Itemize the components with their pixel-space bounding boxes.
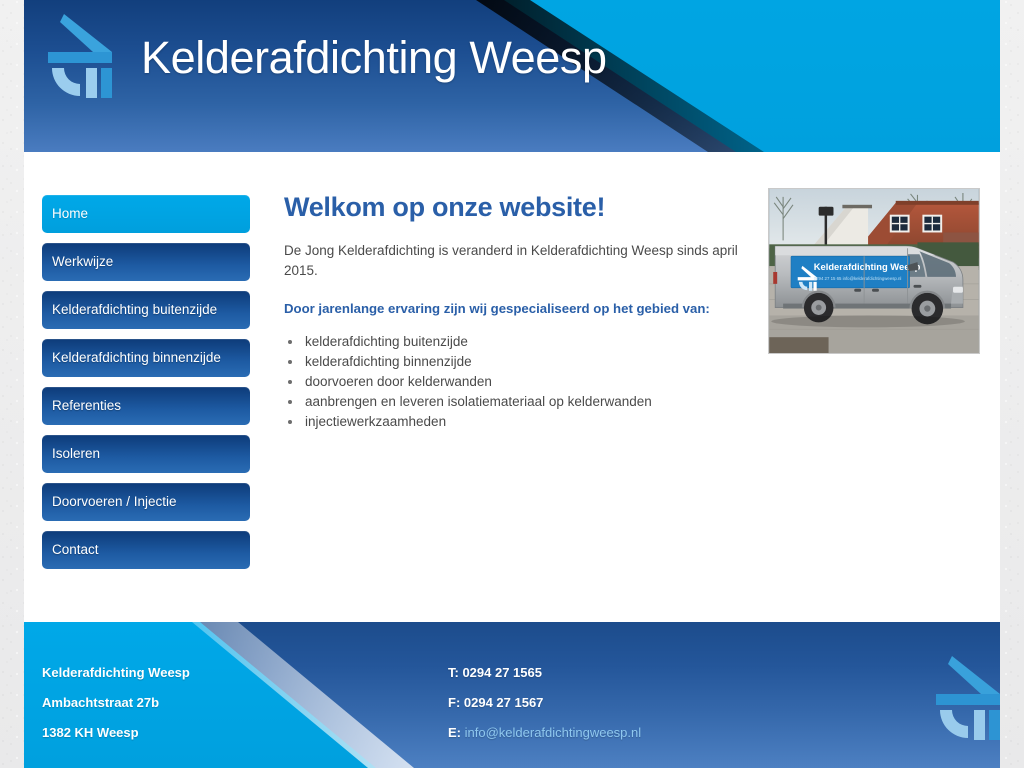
svg-text:Kelderafdichting Weesp: Kelderafdichting Weesp — [814, 262, 921, 272]
sidebar-item-kelderafdichting-binnenzijde[interactable]: Kelderafdichting binnenzijde — [42, 339, 250, 377]
footer-contact-block: T: 0294 27 1565 F: 0294 27 1567 E: info@… — [448, 658, 641, 748]
sidebar-nav: Home Werkwijze Kelderafdichting buitenzi… — [42, 195, 250, 579]
site-header: Kelderafdichting Weesp — [24, 0, 1000, 152]
sidebar-item-kelderafdichting-buitenzijde[interactable]: Kelderafdichting buitenzijde — [42, 291, 250, 329]
footer-address-block: Kelderafdichting Weesp Ambachtstraat 27b… — [42, 658, 190, 748]
footer-city: 1382 KH Weesp — [42, 718, 190, 748]
site-footer: Kelderafdichting Weesp Ambachtstraat 27b… — [24, 622, 1000, 768]
list-item: doorvoeren door kelderwanden — [284, 372, 762, 392]
sidebar-item-referenties[interactable]: Referenties — [42, 387, 250, 425]
sidebar-item-isoleren[interactable]: Isoleren — [42, 435, 250, 473]
company-van-photo: Kelderafdichting Weesp 0294 27 15 65 inf… — [768, 188, 980, 354]
footer-email-row: E: info@kelderafdichtingweesp.nl — [448, 718, 641, 748]
services-list: kelderafdichting buitenzijde kelderafdic… — [284, 332, 762, 432]
sidebar-item-home[interactable]: Home — [42, 195, 250, 233]
intro-paragraph: De Jong Kelderafdichting is veranderd in… — [284, 241, 762, 281]
services-subheading: Door jarenlange ervaring zijn wij gespec… — [284, 301, 762, 316]
footer-email-prefix: E: — [448, 725, 461, 740]
sidebar-item-doorvoeren-injectie[interactable]: Doorvoeren / Injectie — [42, 483, 250, 521]
footer-company-name: Kelderafdichting Weesp — [42, 658, 190, 688]
footer-email-link[interactable]: info@kelderafdichtingweesp.nl — [465, 725, 642, 740]
kelderafdichting-logo-mark-icon[interactable] — [42, 8, 126, 104]
list-item: kelderafdichting buitenzijde — [284, 332, 762, 352]
content-area: Home Werkwijze Kelderafdichting buitenzi… — [24, 152, 1000, 622]
list-item: kelderafdichting binnenzijde — [284, 352, 762, 372]
sidebar-item-contact[interactable]: Contact — [42, 531, 250, 569]
sidebar-item-werkwijze[interactable]: Werkwijze — [42, 243, 250, 281]
footer-phone: T: 0294 27 1565 — [448, 658, 641, 688]
list-item: injectiewerkzaamheden — [284, 412, 762, 432]
footer-fax: F: 0294 27 1567 — [448, 688, 641, 718]
footer-kelderafdichting-logo-mark-icon — [930, 650, 1000, 746]
list-item: aanbrengen en leveren isolatiemateriaal … — [284, 392, 762, 412]
footer-street: Ambachtstraat 27b — [42, 688, 190, 718]
page-title: Welkom op onze website! — [284, 192, 762, 223]
site-page: Kelderafdichting Weesp Home Werkwijze Ke… — [24, 0, 1000, 768]
main-content: Welkom op onze website! De Jong Kelderaf… — [284, 192, 762, 432]
site-title: Kelderafdichting Weesp — [141, 32, 607, 84]
svg-text:0294 27 15 65 info@kelderaf: 0294 27 15 65 info@kelderafdichtingweesp… — [814, 276, 902, 281]
